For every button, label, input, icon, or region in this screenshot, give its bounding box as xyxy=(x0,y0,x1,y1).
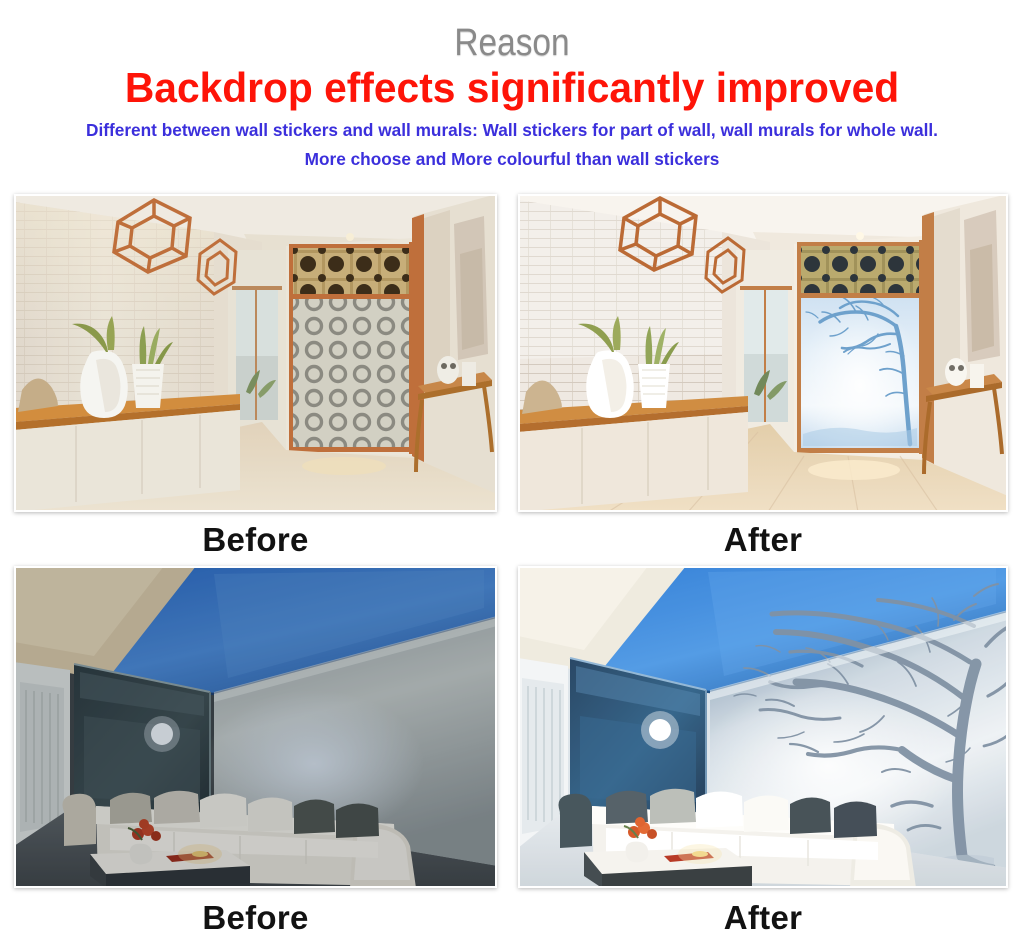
livingroom-after-photo xyxy=(518,566,1008,888)
hallway-after-photo xyxy=(518,194,1008,512)
livingroom-before-photo xyxy=(14,566,497,888)
comparison-grid: Before xyxy=(0,194,1024,946)
eyebrow-text: Reason xyxy=(61,24,962,62)
page-title: Backdrop effects significantly improved xyxy=(15,66,1008,110)
subtitle-line-2: More choose and More colourful than wall… xyxy=(8,145,1017,173)
comparison-row-hallway: Before xyxy=(0,194,1024,566)
livingroom-before-cell: Before xyxy=(14,566,497,938)
livingroom-after-cell: After xyxy=(518,566,1008,938)
header-block: Reason Backdrop effects significantly im… xyxy=(0,0,1024,173)
hallway-before-caption: Before xyxy=(14,512,497,560)
hallway-before-photo xyxy=(14,194,497,512)
hallway-after-cell: After xyxy=(518,194,1008,560)
hallway-before-cell: Before xyxy=(14,194,497,560)
livingroom-after-caption: After xyxy=(518,888,1008,938)
hallway-after-caption: After xyxy=(518,512,1008,560)
comparison-row-livingroom: Before xyxy=(0,566,1024,946)
livingroom-before-caption: Before xyxy=(14,888,497,938)
subtitle-line-1: Different between wall stickers and wall… xyxy=(8,116,1017,144)
